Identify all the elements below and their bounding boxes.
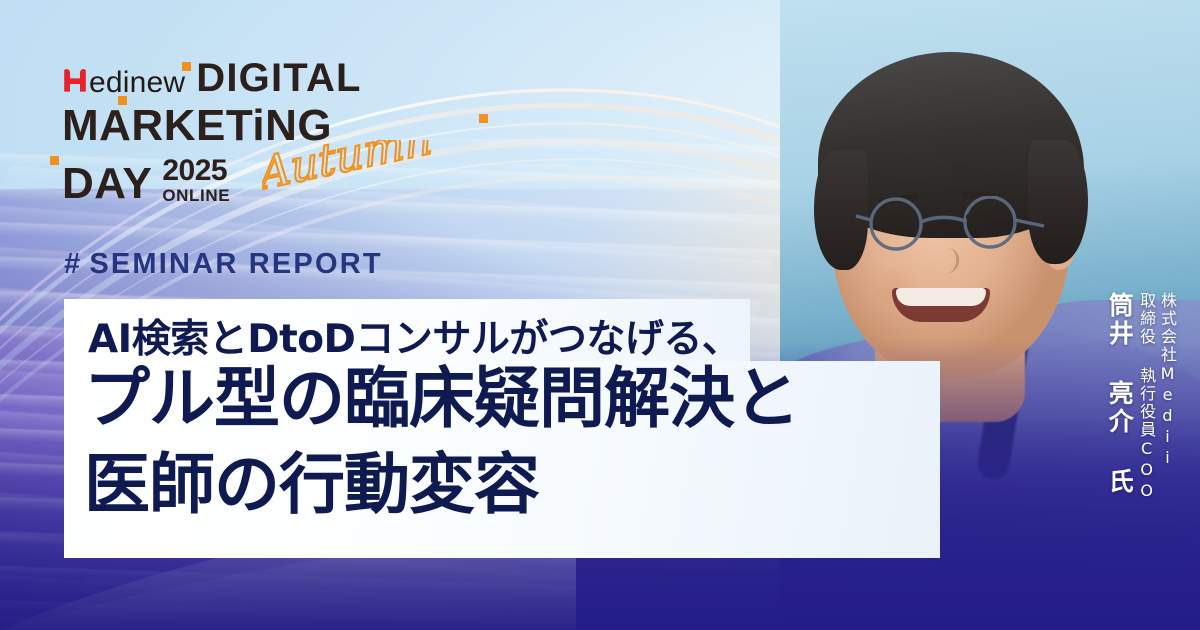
speaker-name: 筒井 亮介 氏 <box>1105 292 1135 496</box>
glasses-icon <box>854 196 1058 252</box>
accent-square-day <box>50 156 59 165</box>
seminar-report-text: SEMINAR REPORT <box>89 248 382 281</box>
accent-square-marketing-2 <box>479 114 488 123</box>
medinew-m-icon <box>62 65 88 92</box>
logo-row-brand-digital: edinew DIGITAL <box>62 58 482 98</box>
logo-day-block: DAY <box>62 162 152 206</box>
accent-square-digital <box>182 62 191 71</box>
logo-online-text: ONLINE <box>162 187 230 204</box>
accent-square-marketing <box>118 96 127 105</box>
title-line-1: AI検索とDtoDコンサルがつなげる、 <box>88 308 740 364</box>
portrait-mouth <box>892 288 990 322</box>
speaker-company: 株式会社Medii <box>1157 292 1176 469</box>
logo-year-text: 2025 <box>162 156 227 186</box>
svg-text:Autumn: Autumn <box>262 140 435 201</box>
medinew-wordmark: edinew <box>62 65 185 98</box>
logo-digital-text: DIGITAL <box>196 56 361 100</box>
portrait-eye-right <box>966 213 988 222</box>
portrait-nose <box>930 248 959 274</box>
speaker-caption: 筒井 亮介 氏 取締役 執行役員COO 株式会社Medii <box>1105 292 1176 502</box>
seminar-report-label: # SEMINAR REPORT <box>64 248 383 281</box>
logo-year-block: 2025 ONLINE <box>162 156 230 206</box>
title-line-3: 医師の行動変容 <box>84 452 539 518</box>
hash-icon: # <box>64 248 82 281</box>
title-line-2: プル型の臨床疑問解決と <box>84 366 799 432</box>
logo-word-digital: DIGITAL <box>196 58 361 98</box>
medinew-name-rest: edinew <box>89 68 185 98</box>
autumn-script-text: Autumn <box>262 140 442 204</box>
logo-day-text: DAY <box>62 159 152 208</box>
seminar-report-banner: Medi edinew DIGITAL MARKETiNG <box>0 0 1200 630</box>
portrait-teeth <box>896 288 986 306</box>
speaker-role: 取締役 執行役員COO <box>1136 292 1155 502</box>
